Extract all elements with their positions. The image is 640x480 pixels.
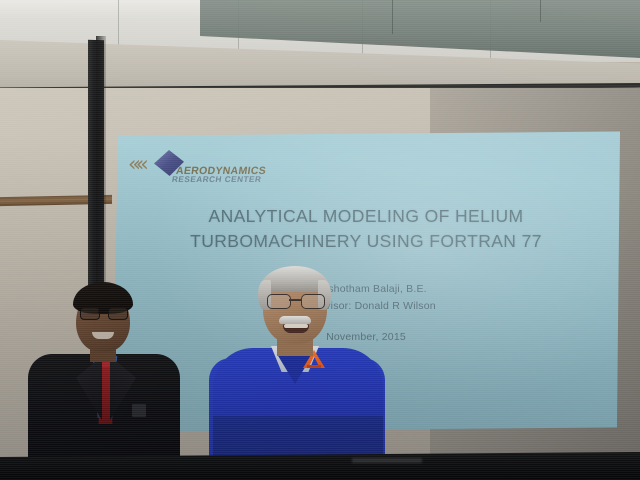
lens-left bbox=[267, 294, 291, 309]
logo-line2: RESEARCH CENTER bbox=[171, 175, 262, 184]
person-left bbox=[28, 282, 180, 480]
lens-left bbox=[80, 307, 100, 320]
desk-highlight bbox=[352, 458, 422, 463]
slide-title-line1: ANALYTICAL MODELING OF HELIUM bbox=[112, 204, 620, 229]
glasses-bridge bbox=[289, 299, 301, 301]
person-right bbox=[205, 266, 390, 480]
ceiling-seam bbox=[540, 0, 541, 22]
mustache bbox=[279, 316, 311, 324]
breast-pocket bbox=[132, 404, 146, 417]
teeth bbox=[284, 324, 308, 328]
photo-scene: «« AERODYNAMICS RESEARCH CENTER ANALYTIC… bbox=[0, 0, 640, 480]
ceiling-seam bbox=[392, 0, 393, 34]
slide-title-line2: TURBOMACHINERY USING FORTRAN 77 bbox=[112, 229, 620, 254]
eyeglasses-icon bbox=[267, 294, 323, 307]
mouth bbox=[92, 332, 114, 339]
glasses-bridge bbox=[98, 311, 108, 313]
eyeglasses-icon bbox=[80, 307, 126, 318]
lens-right bbox=[108, 307, 128, 320]
aerodynamics-research-center-logo: «« AERODYNAMICS RESEARCH CENTER bbox=[126, 144, 306, 188]
slide-title: ANALYTICAL MODELING OF HELIUM TURBOMACHI… bbox=[112, 204, 620, 254]
letter-a-crossbar bbox=[307, 365, 321, 368]
lens-right bbox=[301, 294, 325, 309]
